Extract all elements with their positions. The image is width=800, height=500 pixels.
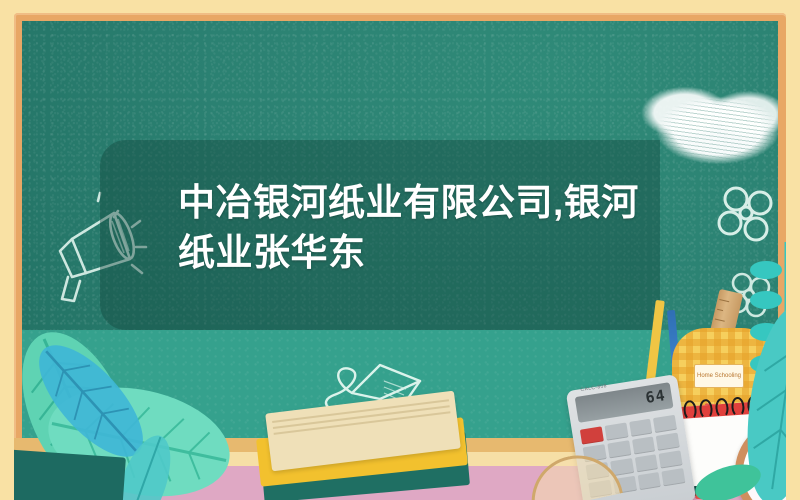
calculator-key[interactable] xyxy=(604,423,628,441)
calculator-key[interactable] xyxy=(607,440,631,458)
calculator-key[interactable] xyxy=(629,419,653,437)
calculator-key[interactable] xyxy=(580,426,604,444)
calculator-key[interactable] xyxy=(637,472,661,490)
page-title: 中冶银河纸业有限公司,银河纸业张华东 xyxy=(178,178,648,278)
calculator-key[interactable] xyxy=(634,454,658,472)
mat-right-edge xyxy=(786,0,800,500)
calculator-key[interactable] xyxy=(632,436,656,454)
calculator-key[interactable] xyxy=(662,468,686,486)
poster-canvas: 中冶银河纸业有限公司,银河纸业张华东 xyxy=(0,0,800,500)
calculator-display-value: 64 xyxy=(644,386,667,407)
mat-left-edge xyxy=(0,0,14,500)
small-leaf-front-icon xyxy=(688,448,768,500)
calculator-key[interactable] xyxy=(653,415,677,433)
calculator-key[interactable] xyxy=(659,450,683,468)
calculator-key[interactable] xyxy=(656,433,680,451)
